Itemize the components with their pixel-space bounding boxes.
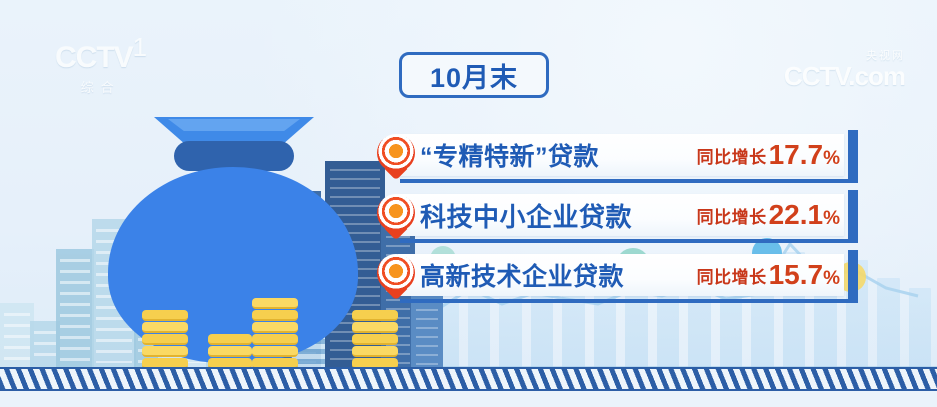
location-pin-icon	[376, 133, 416, 177]
stat-row-underline	[400, 239, 858, 243]
stat-row-underline	[400, 299, 858, 303]
site-watermark: 央视网 CCTV.com	[784, 46, 905, 89]
title-badge-text: 10月末	[430, 56, 518, 95]
stat-row-value: 15.7%	[769, 259, 840, 291]
broadcast-infographic-frame: CCTV1 综合 央视网 CCTV.com 10月末 “专精特新”贷款 同比增长…	[0, 0, 937, 407]
title-badge: 10月末	[399, 52, 549, 98]
stat-row-label: 高新技术企业贷款	[420, 257, 624, 293]
stat-row-growth-label: 同比增长	[697, 203, 767, 228]
stat-row-unit: %	[823, 268, 840, 289]
stat-row-unit: %	[823, 208, 840, 229]
coin-stack	[252, 298, 298, 369]
channel-watermark: CCTV1 综合	[55, 34, 146, 96]
stat-row: 科技中小企业贷款 同比增长 22.1%	[376, 193, 858, 237]
stat-row-growth-label: 同比增长	[697, 143, 767, 168]
channel-watermark-text: CCTV	[55, 41, 133, 74]
stat-row-growth-label: 同比增长	[697, 263, 767, 288]
stat-row-list: “专精特新”贷款 同比增长 17.7% 科技中小企业贷款 同比增长 22.1%	[376, 133, 858, 313]
stat-row-bracket	[848, 250, 858, 300]
site-watermark-main: CCTV.com	[784, 63, 905, 89]
stat-row-value: 17.7%	[769, 139, 840, 171]
coin-stack	[208, 334, 252, 369]
stat-row-number: 22.1	[769, 199, 824, 230]
location-pin-icon	[376, 193, 416, 237]
stat-row-label: 科技中小企业贷款	[420, 197, 632, 234]
stat-row-bracket	[848, 130, 858, 180]
stat-row-number: 17.7	[769, 139, 824, 170]
channel-sub-label: 综合	[55, 77, 146, 96]
footer-stripe-band	[0, 367, 937, 391]
stat-row: 高新技术企业贷款 同比增长 15.7%	[376, 253, 858, 297]
coin-stack	[142, 310, 188, 369]
stat-row-bracket	[848, 190, 858, 240]
coin-stack	[352, 310, 398, 369]
stat-row-underline	[400, 179, 858, 183]
stat-row: “专精特新”贷款 同比增长 17.7%	[376, 133, 858, 177]
stat-row-value: 22.1%	[769, 199, 840, 231]
stat-row-number: 15.7	[769, 259, 824, 290]
location-pin-icon	[376, 253, 416, 297]
footer-pad	[0, 391, 937, 407]
channel-number: 1	[133, 32, 146, 62]
stat-row-label: “专精特新”贷款	[420, 137, 599, 173]
stat-row-unit: %	[823, 148, 840, 169]
